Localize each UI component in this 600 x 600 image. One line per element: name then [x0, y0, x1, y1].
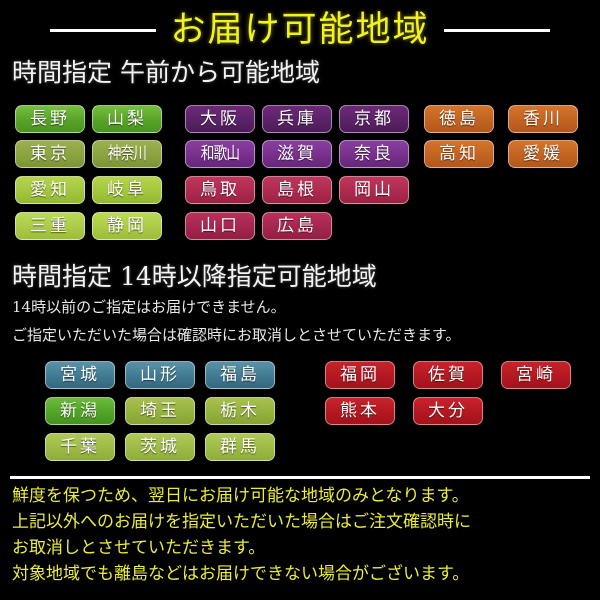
prefecture-badge: 山梨 [92, 105, 162, 133]
prefecture-badge: 岡山 [339, 176, 409, 204]
prefecture-badge-label: 岐阜 [107, 176, 147, 204]
prefecture-badge-label: 新潟 [60, 397, 100, 425]
prefecture-badge: 岐阜 [92, 176, 162, 204]
prefecture-badge-label: 佐賀 [428, 361, 468, 389]
prefecture-badge-label: 和歌山 [201, 140, 239, 168]
prefecture-badge-label: 長野 [30, 105, 70, 133]
prefecture-badge-label: 岡山 [354, 176, 394, 204]
page-title: お届け可能地域 [170, 7, 429, 53]
prefecture-badge-label: 島根 [277, 176, 317, 204]
title-rule-left [50, 29, 156, 32]
prefecture-badge-label: 大分 [428, 397, 468, 425]
prefecture-badge: 神奈川 [92, 140, 162, 168]
footer-line-3: お取消しとさせていただきます。 [12, 536, 265, 561]
prefecture-badge-label: 埼玉 [140, 397, 180, 425]
prefecture-badge: 兵庫 [262, 105, 332, 133]
section-heading-morning: 時間指定 午前から可能地域 [12, 58, 320, 88]
section-note-1: 14時以前のご指定はお届けできません。 [12, 296, 286, 318]
prefecture-badge: 茨城 [125, 433, 195, 461]
prefecture-badge: 香川 [508, 105, 578, 133]
prefecture-badge: 滋賀 [262, 140, 332, 168]
prefecture-badge: 京都 [339, 105, 409, 133]
prefecture-badge-label: 徳島 [439, 105, 479, 133]
prefecture-badge: 奈良 [339, 140, 409, 168]
prefecture-badge-label: 熊本 [340, 397, 380, 425]
prefecture-badge: 山口 [185, 212, 255, 240]
prefecture-badge: 愛知 [15, 176, 85, 204]
prefecture-badge-label: 鳥取 [200, 176, 240, 204]
prefecture-badge-label: 千葉 [60, 433, 100, 461]
prefecture-badge-label: 愛知 [30, 176, 70, 204]
prefecture-badge: 群馬 [205, 433, 275, 461]
prefecture-badge: 大分 [413, 397, 483, 425]
prefecture-badge: 鳥取 [185, 176, 255, 204]
prefecture-badge-label: 茨城 [140, 433, 180, 461]
section-note-2: ご指定いただいた場合は確認時にお取消しとさせていただきます。 [12, 324, 461, 346]
prefecture-badge: 愛媛 [508, 140, 578, 168]
prefecture-badge-label: 神奈川 [108, 140, 146, 168]
prefecture-badge: 長野 [15, 105, 85, 133]
prefecture-badge-label: 栃木 [220, 397, 260, 425]
prefecture-badge-label: 愛媛 [523, 140, 563, 168]
prefecture-badge-label: 香川 [523, 105, 563, 133]
prefecture-badge-label: 福岡 [340, 361, 380, 389]
footer-divider [10, 476, 590, 479]
prefecture-badge-label: 広島 [277, 212, 317, 240]
prefecture-badge: 高知 [424, 140, 494, 168]
prefecture-badge: 三重 [15, 212, 85, 240]
prefecture-badge: 埼玉 [125, 397, 195, 425]
prefecture-badge: 千葉 [45, 433, 115, 461]
section-heading-afternoon: 時間指定 14時以降指定可能地域 [12, 262, 377, 292]
title-row: お届け可能地域 [0, 6, 600, 54]
prefecture-badge: 東京 [15, 140, 85, 168]
prefecture-badge-label: 山口 [200, 212, 240, 240]
prefecture-badge-label: 高知 [439, 140, 479, 168]
prefecture-badge: 徳島 [424, 105, 494, 133]
prefecture-badge: 新潟 [45, 397, 115, 425]
prefecture-badge-label: 京都 [354, 105, 394, 133]
prefecture-badge: 大阪 [185, 105, 255, 133]
prefecture-badge-label: 山梨 [107, 105, 147, 133]
prefecture-badge: 島根 [262, 176, 332, 204]
prefecture-badge: 和歌山 [185, 140, 255, 168]
prefecture-badge: 福島 [205, 361, 275, 389]
prefecture-badge-label: 群馬 [220, 433, 260, 461]
prefecture-badge-label: 東京 [30, 140, 70, 168]
prefecture-badge: 静岡 [92, 212, 162, 240]
prefecture-badge-label: 兵庫 [277, 105, 317, 133]
title-rule-right [444, 29, 550, 32]
footer-line-1: 鮮度を保つため、翌日にお届け可能な地域のみとなります。 [12, 484, 469, 509]
prefecture-badge: 栃木 [205, 397, 275, 425]
prefecture-badge: 佐賀 [413, 361, 483, 389]
prefecture-badge-label: 福島 [220, 361, 260, 389]
prefecture-badge-label: 山形 [140, 361, 180, 389]
prefecture-badge: 熊本 [325, 397, 395, 425]
prefecture-badge: 宮崎 [501, 361, 571, 389]
prefecture-badge-label: 奈良 [354, 140, 394, 168]
prefecture-badge: 広島 [262, 212, 332, 240]
prefecture-badge-label: 宮城 [60, 361, 100, 389]
footer-line-2: 上記以外へのお届けを指定いただいた場合はご注文確認時に [12, 510, 471, 535]
prefecture-badge-label: 大阪 [200, 105, 240, 133]
prefecture-badge-label: 滋賀 [277, 140, 317, 168]
prefecture-badge-label: 宮崎 [516, 361, 556, 389]
prefecture-badge: 宮城 [45, 361, 115, 389]
prefecture-badge: 山形 [125, 361, 195, 389]
prefecture-badge: 福岡 [325, 361, 395, 389]
footer-line-4: 対象地域でも離島などはお届けできない場合がございます。 [12, 562, 469, 587]
prefecture-badge-label: 三重 [30, 212, 70, 240]
prefecture-badge-label: 静岡 [107, 212, 147, 240]
shipping-area-infographic: お届け可能地域 時間指定 午前から可能地域 時間指定 14時以降指定可能地域 1… [0, 0, 600, 600]
